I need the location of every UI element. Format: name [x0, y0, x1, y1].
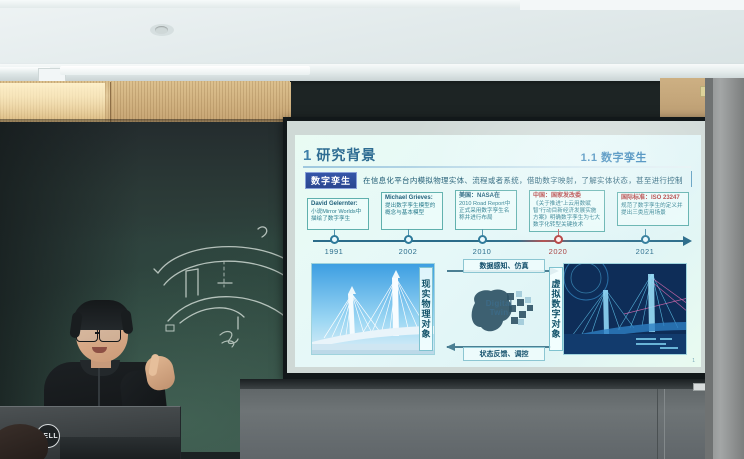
card-heading: David Gelernter:	[311, 201, 365, 209]
slide-subsection-title: 1.1 数字孪生	[581, 149, 647, 165]
wall-seam-left	[657, 389, 658, 459]
timeline-node-highlight	[554, 235, 563, 244]
card-body: 2010 Road Report中正式采用数字孪生名称并进行布局	[459, 201, 513, 222]
presentation-slide: 1 研究背景 1.1 数字孪生 数字孪生 在信息化平台内模拟物理实体、流程或者系…	[295, 135, 701, 367]
timeline-node	[404, 235, 413, 244]
timeline-node	[478, 235, 487, 244]
digital-twin-definition: 在信息化平台内模拟物理实体、流程或者系统，借助数字映射，了解实体状态，甚至进行控…	[363, 175, 683, 186]
card-heading: 美国：NASA在	[459, 193, 513, 201]
timeline-card: Michael Grieves: 提出数字孪生模型的概念与基本模型	[381, 192, 443, 230]
timeline-year: 1991	[325, 247, 344, 256]
definition-row: 数字孪生 在信息化平台内模拟物理实体、流程或者系统，借助数字映射，了解实体状态，…	[305, 173, 693, 187]
card-heading: 中国：国家发改委	[533, 193, 601, 201]
card-body: 规范了数字孪生的定义并提出三类应用场景	[621, 203, 685, 217]
timeline-year: 2020	[549, 247, 568, 256]
card-heading: 国际标准：ISO 23247	[621, 195, 685, 203]
lecture-room-photo: 1 研究背景 1.1 数字孪生 数字孪生 在信息化平台内模拟物理实体、流程或者系…	[0, 0, 744, 459]
virtual-object-label: 虚拟数字对象	[549, 267, 563, 351]
glasses-bridge	[95, 332, 100, 334]
card-body: 小说Mirror Worlds中描绘了数字孪生	[311, 209, 365, 223]
wood-panel-upper-right	[110, 82, 291, 122]
timeline-year: 2010	[473, 247, 492, 256]
timeline-year: 2021	[636, 247, 655, 256]
wall-seam-right	[664, 389, 665, 459]
timeline-card: 国际标准：ISO 23247 规范了数字孪生的定义并提出三类应用场景	[617, 192, 689, 226]
screen-bottom-bar	[240, 379, 712, 389]
timeline-node	[330, 235, 339, 244]
card-heading: Michael Grieves:	[385, 195, 439, 203]
slide-header: 1 研究背景 1.1 数字孪生	[303, 141, 693, 165]
fluorescent-tube	[60, 66, 310, 75]
timeline-node	[641, 235, 650, 244]
slide-header-rule	[303, 166, 691, 168]
timeline-arrow-icon	[683, 236, 692, 246]
definition-end-mark	[691, 171, 692, 187]
smoke-detector-icon	[155, 26, 168, 34]
wood-panel-light-glow	[0, 83, 105, 121]
physical-object-label: 现实物理对象	[419, 267, 433, 351]
right-wall-edge	[705, 78, 713, 459]
slide-section-number: 1	[303, 148, 311, 163]
digital-twin-line1: Digital	[486, 299, 513, 308]
digital-twin-tag: 数字孪生	[305, 172, 357, 189]
presenter-hair-side-right	[120, 309, 133, 334]
digital-twin-diagram: 现实物理对象 数据感知、仿真 Digital Twin	[311, 263, 687, 361]
slide-page-number: 1	[692, 358, 695, 364]
card-body: 《关于推进“上云用数赋智”行动目新经济发展实施方案》明确数字孪生为七大数字化转型…	[533, 201, 601, 230]
arrow-bottom-label: 状态反馈、调控	[463, 347, 545, 361]
physical-bridge-photo	[311, 263, 435, 355]
digital-twin-center-label: Digital Twin	[473, 299, 525, 317]
timeline-card: David Gelernter: 小说Mirror Worlds中描绘了数字孪生	[307, 198, 369, 230]
timeline-year: 2002	[399, 247, 418, 256]
ceiling-panel-right	[520, 0, 744, 10]
arrow-top-label: 数据感知、仿真	[463, 259, 545, 273]
timeline-card: 美国：NASA在 2010 Road Report中正式采用数字孪生名称并进行布…	[455, 190, 517, 230]
digital-twin-bridge-render	[563, 263, 687, 355]
digital-twin-line2: Twin	[490, 308, 509, 317]
timeline-card: 中国：国家发改委 《关于推进“上云用数赋智”行动目新经济发展实施方案》明确数字孪…	[529, 190, 605, 232]
lower-wall	[240, 379, 712, 459]
timeline-axis	[313, 240, 685, 242]
timeline-cards: David Gelernter: 小说Mirror Worlds中描绘了数字孪生…	[303, 190, 695, 234]
laptop-base[interactable]	[60, 437, 180, 459]
slide-section-title: 研究背景	[316, 145, 376, 165]
card-body: 提出数字孪生模型的概念与基本模型	[385, 203, 439, 217]
